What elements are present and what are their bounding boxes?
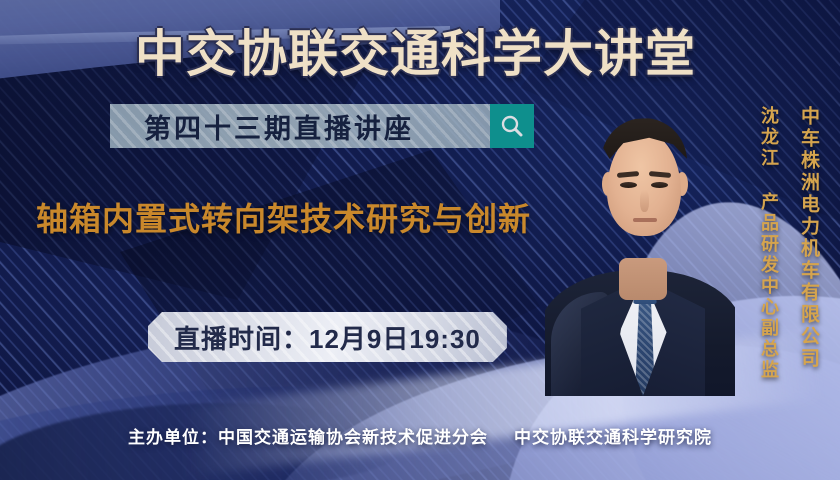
speaker-name-role: 沈龙江 产品研发中心副总监 <box>756 106 782 381</box>
footer-hosts: 主办单位：中国交通运输协会新技术促进分会中交协联交通科学研究院 <box>0 423 840 448</box>
search-icon-box[interactable] <box>490 104 534 148</box>
broadcast-time-badge: 直播时间：12月9日19:30 <box>148 312 507 362</box>
portrait-nose <box>640 190 649 212</box>
speaker-organization: 中车株洲电力机车有限公司 <box>795 106 822 370</box>
search-icon <box>499 113 525 139</box>
portrait-eye-left <box>620 182 637 188</box>
portrait-neck <box>619 258 667 300</box>
topic-title: 轴箱内置式转向架技术研究与创新 <box>36 194 531 240</box>
episode-label: 第四十三期直播讲座 <box>110 107 490 146</box>
footer-host-label: 主办单位： <box>128 428 218 447</box>
broadcast-time-text: 直播时间：12月9日19:30 <box>174 319 481 356</box>
episode-banner: 第四十三期直播讲座 <box>110 104 534 148</box>
footer-host-one: 中国交通运输协会新技术促进分会 <box>218 428 488 447</box>
footer-host-two: 中交协联交通科学研究院 <box>514 428 712 447</box>
portrait-eye-right <box>651 182 668 188</box>
page-title: 中交协联交通科学大讲堂 <box>135 14 696 86</box>
speaker-portrait <box>545 96 735 396</box>
lecture-poster: 中交协联交通科学大讲堂 第四十三期直播讲座 轴箱内置式转向架技术研究与创新 直播… <box>0 0 840 480</box>
portrait-mouth <box>633 218 657 222</box>
